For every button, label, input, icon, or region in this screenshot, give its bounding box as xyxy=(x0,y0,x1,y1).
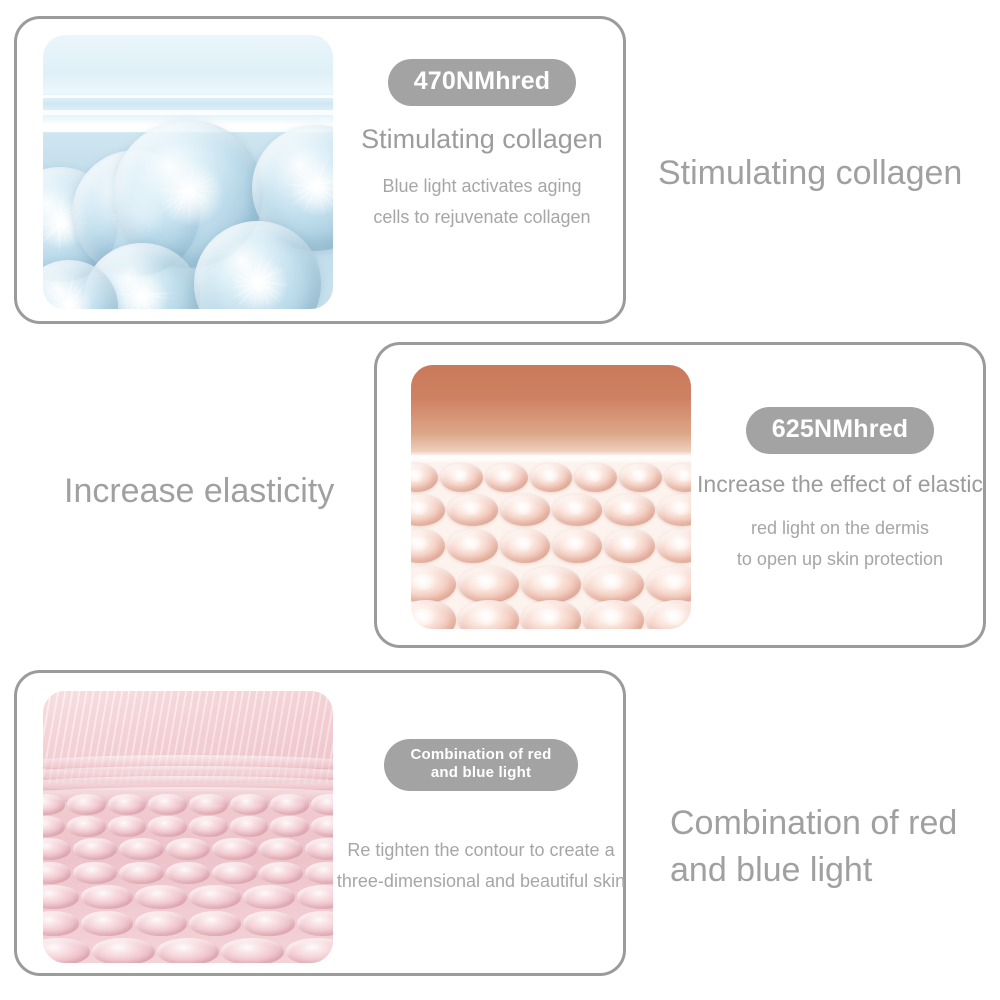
tightened-pink-skin-image xyxy=(43,691,333,963)
outside-heading-combination: Combination of red and blue light xyxy=(670,800,990,894)
benefit-card-combination: Combination of red and blue light Re tig… xyxy=(14,670,626,976)
outside-heading-stimulating-collagen: Stimulating collagen xyxy=(658,150,988,197)
card-625nm-body: red light on the dermis to open up skin … xyxy=(697,513,983,575)
outside-heading-increase-elasticity: Increase elasticity xyxy=(64,468,374,515)
card-combination-text-block: Combination of red and blue light Re tig… xyxy=(335,739,627,897)
skin-dermis-cells-image xyxy=(411,365,691,629)
benefit-card-470nm: 470NMhred Stimulating collagen Blue ligh… xyxy=(14,16,626,324)
badge-combination: Combination of red and blue light xyxy=(384,739,577,791)
badge-625nm: 625NMhred xyxy=(746,407,935,454)
card-625nm-text-block: 625NMhred Increase the effect of elastic… xyxy=(697,407,983,575)
blue-collagen-spheres-image xyxy=(43,35,333,309)
card-470nm-text-block: 470NMhred Stimulating collagen Blue ligh… xyxy=(349,59,615,233)
card-470nm-body: Blue light activates aging cells to reju… xyxy=(349,171,615,233)
card-470nm-heading: Stimulating collagen xyxy=(349,122,615,157)
card-combination-body: Re tighten the contour to create a three… xyxy=(335,835,627,897)
badge-470nm: 470NMhred xyxy=(388,59,577,106)
benefit-card-625nm: 625NMhred Increase the effect of elastic… xyxy=(374,342,986,648)
card-625nm-heading: Increase the effect of elastic xyxy=(697,470,983,500)
infographic-stage: 470NMhred Stimulating collagen Blue ligh… xyxy=(0,0,1000,1000)
